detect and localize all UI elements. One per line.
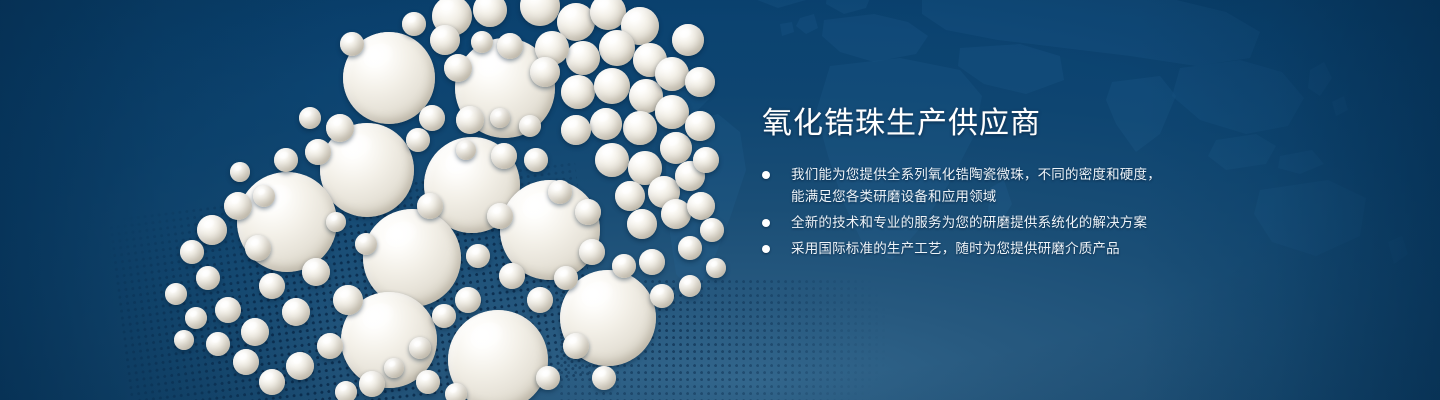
- zirconia-bead: [590, 108, 622, 140]
- feature-list-item-line: 我们能为您提供全系列氧化锆陶瓷微珠，不同的密度和硬度，: [791, 164, 1232, 186]
- zirconia-bead: [165, 283, 187, 305]
- zirconia-bead: [575, 199, 601, 225]
- zirconia-bead: [326, 212, 346, 232]
- zirconia-bead: [615, 181, 645, 211]
- zirconia-bead: [660, 132, 692, 164]
- zirconia-bead: [335, 381, 357, 400]
- bullet-dot-icon: [762, 245, 770, 253]
- zirconia-bead: [286, 352, 314, 380]
- zirconia-bead: [180, 240, 204, 264]
- zirconia-bead: [595, 143, 629, 177]
- zirconia-bead: [455, 287, 481, 313]
- zirconia-bead: [299, 107, 321, 129]
- zirconia-bead: [384, 358, 404, 378]
- zirconia-bead: [679, 275, 701, 297]
- zirconia-bead: [612, 254, 636, 278]
- bullet-dot-icon: [762, 219, 770, 227]
- zirconia-bead: [554, 266, 578, 290]
- zirconia-bead: [471, 31, 493, 53]
- zirconia-bead: [592, 366, 616, 390]
- zirconia-bead: [333, 285, 363, 315]
- zirconia-bead: [466, 244, 490, 268]
- feature-list-item: 我们能为您提供全系列氧化锆陶瓷微珠，不同的密度和硬度，能满足您各类研磨设备和应用…: [762, 164, 1232, 208]
- zirconia-bead: [359, 371, 385, 397]
- zirconia-bead: [174, 330, 194, 350]
- zirconia-bead: [355, 233, 377, 255]
- zirconia-bead: [599, 30, 635, 66]
- feature-list-item-line: 能满足您各类研磨设备和应用领域: [791, 186, 1232, 208]
- zirconia-bead: [693, 147, 719, 173]
- zirconia-bead: [548, 180, 572, 204]
- zirconia-bead: [520, 0, 560, 26]
- zirconia-bead: [259, 273, 285, 299]
- zirconia-bead: [490, 108, 510, 128]
- zirconia-bead: [594, 68, 630, 104]
- zirconia-bead: [406, 128, 430, 152]
- zirconia-bead: [473, 0, 507, 27]
- zirconia-bead: [499, 263, 525, 289]
- zirconia-bead: [417, 193, 443, 219]
- zirconia-bead: [672, 24, 704, 56]
- page-title: 氧化锆珠生产供应商: [762, 104, 1232, 144]
- zirconia-bead: [639, 249, 665, 275]
- zirconia-bead: [655, 57, 689, 91]
- zirconia-bead: [491, 143, 517, 169]
- zirconia-bead: [579, 239, 605, 265]
- zirconia-bead: [253, 185, 275, 207]
- zirconia-bead: [678, 236, 702, 260]
- zirconia-bead: [206, 332, 230, 356]
- zirconia-bead: [241, 318, 269, 346]
- zirconia-bead: [566, 41, 600, 75]
- zirconia-bead: [687, 192, 715, 220]
- zirconia-bead: [259, 369, 285, 395]
- zirconia-bead: [305, 139, 331, 165]
- banner-text-block: 氧化锆珠生产供应商 我们能为您提供全系列氧化锆陶瓷微珠，不同的密度和硬度，能满足…: [762, 104, 1232, 260]
- zirconia-bead: [530, 57, 560, 87]
- zirconia-bead: [700, 218, 724, 242]
- zirconia-bead: [224, 192, 252, 220]
- zirconia-bead: [197, 215, 227, 245]
- zirconia-bead: [402, 12, 426, 36]
- zirconia-bead: [655, 95, 689, 129]
- zirconia-bead: [317, 333, 343, 359]
- zirconia-bead: [419, 105, 445, 131]
- zirconia-bead: [233, 349, 259, 375]
- zirconia-bead: [536, 366, 560, 390]
- zirconia-bead: [274, 148, 298, 172]
- bullet-dot-icon: [762, 171, 770, 179]
- zirconia-bead: [416, 370, 440, 394]
- zirconia-bead: [706, 258, 726, 278]
- zirconia-bead: [185, 307, 207, 329]
- feature-list: 我们能为您提供全系列氧化锆陶瓷微珠，不同的密度和硬度，能满足您各类研磨设备和应用…: [762, 164, 1232, 260]
- zirconia-bead: [627, 209, 657, 239]
- zirconia-bead: [497, 33, 523, 59]
- zirconia-bead: [432, 304, 456, 328]
- zirconia-bead: [685, 67, 715, 97]
- zirconia-bead: [456, 140, 476, 160]
- zirconia-beads-image: [0, 0, 760, 400]
- feature-list-item-line: 全新的技术和专业的服务为您的研磨提供系统化的解决方案: [791, 212, 1232, 234]
- zirconia-bead: [685, 111, 715, 141]
- zirconia-bead: [215, 297, 241, 323]
- zirconia-bead: [445, 383, 467, 400]
- feature-list-item-line: 采用国际标准的生产工艺，随时为您提供研磨介质产品: [791, 238, 1232, 260]
- zirconia-bead: [519, 115, 541, 137]
- zirconia-bead: [650, 284, 674, 308]
- zirconia-bead: [527, 287, 553, 313]
- zirconia-bead: [340, 32, 364, 56]
- zirconia-bead: [409, 337, 431, 359]
- feature-list-item: 全新的技术和专业的服务为您的研磨提供系统化的解决方案: [762, 212, 1232, 234]
- zirconia-bead: [230, 162, 250, 182]
- zirconia-bead: [430, 25, 460, 55]
- zirconia-bead: [456, 106, 484, 134]
- zirconia-bead: [444, 54, 472, 82]
- zirconia-bead: [524, 148, 548, 172]
- hero-banner: 氧化锆珠生产供应商 我们能为您提供全系列氧化锆陶瓷微珠，不同的密度和硬度，能满足…: [0, 0, 1440, 400]
- zirconia-bead: [487, 203, 513, 229]
- zirconia-bead: [326, 114, 354, 142]
- feature-list-item: 采用国际标准的生产工艺，随时为您提供研磨介质产品: [762, 238, 1232, 260]
- zirconia-bead: [245, 235, 271, 261]
- zirconia-bead: [302, 258, 330, 286]
- zirconia-bead: [196, 266, 220, 290]
- zirconia-bead: [561, 115, 591, 145]
- zirconia-bead: [561, 75, 595, 109]
- zirconia-bead: [623, 111, 657, 145]
- zirconia-bead: [563, 333, 589, 359]
- zirconia-bead: [282, 298, 310, 326]
